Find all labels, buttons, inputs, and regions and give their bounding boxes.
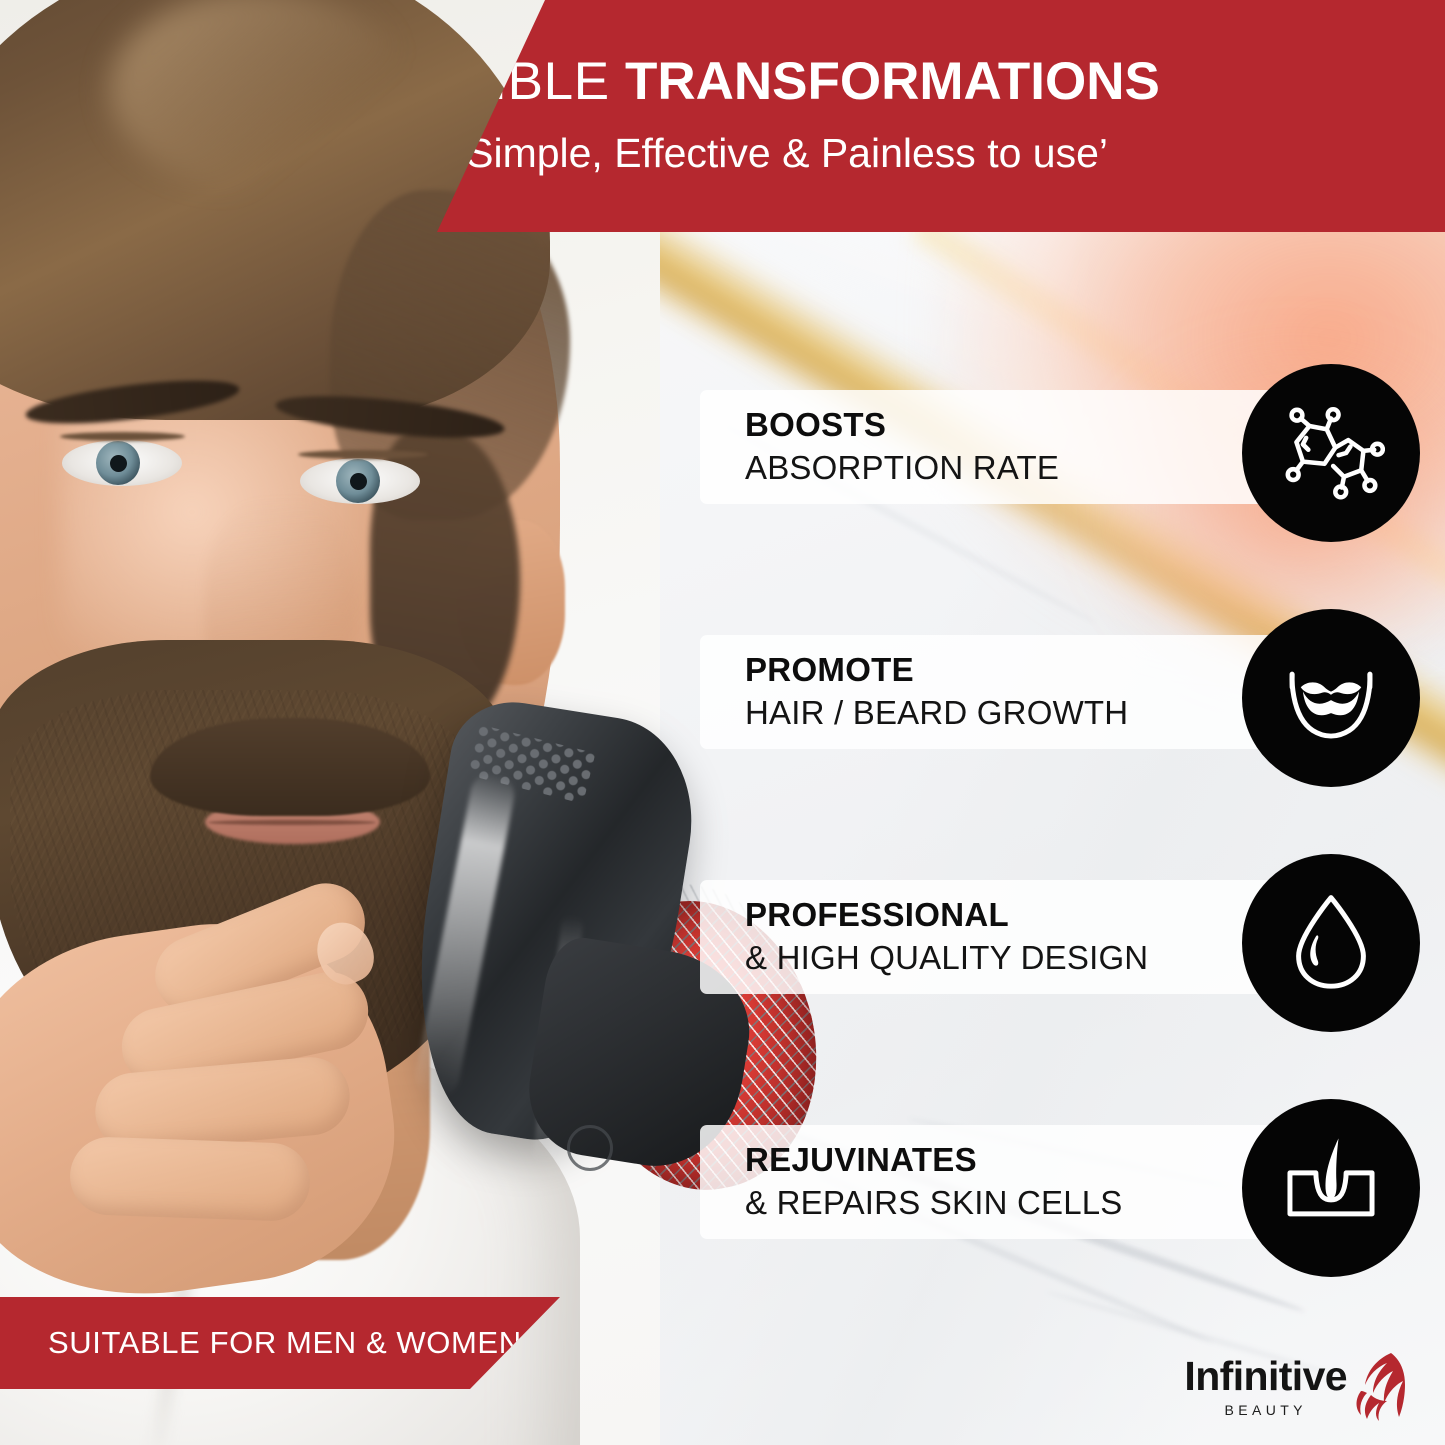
feature-row-boosts: BOOSTS ABSORPTION RATE [700, 372, 1420, 522]
feature-row-rejuvinates: REJUVINATES & REPAIRS SKIN CELLS [700, 1107, 1420, 1257]
feature-headline: PROFESSIONAL [745, 897, 1304, 934]
feature-row-promote: PROMOTE HAIR / BEARD GROWTH [700, 617, 1420, 767]
lip-line [208, 820, 376, 825]
feature-headline: REJUVINATES [745, 1142, 1304, 1179]
footer-banner-text: SUITABLE FOR MEN & WOMEN [48, 1325, 522, 1361]
flowing-hair-icon [1347, 1351, 1409, 1423]
feature-headline: BOOSTS [745, 407, 1304, 444]
roller-pivot [567, 1125, 613, 1171]
hair-follicle-icon [1277, 1134, 1385, 1242]
feature-subline: ABSORPTION RATE [745, 449, 1304, 487]
finger [69, 1136, 312, 1222]
product-marketing-image: VISIBLE TRANSFORMATIONS ‘Simple, Effecti… [0, 0, 1445, 1445]
mustache [150, 718, 430, 816]
feature-subline: HAIR / BEARD GROWTH [745, 694, 1304, 732]
feature-icon-badge [1242, 1099, 1420, 1277]
droplet-icon [1277, 889, 1385, 997]
page-title: VISIBLE TRANSFORMATIONS [405, 55, 1160, 108]
title-bold-word: TRANSFORMATIONS [625, 52, 1160, 111]
feature-row-professional: PROFESSIONAL & HIGH QUALITY DESIGN [700, 862, 1420, 1012]
eyelid-right [298, 450, 428, 459]
feature-subline: & REPAIRS SKIN CELLS [745, 1184, 1304, 1222]
feature-text-bar: PROFESSIONAL & HIGH QUALITY DESIGN [700, 880, 1304, 994]
eyelid-left [60, 432, 185, 441]
feature-text-bar: BOOSTS ABSORPTION RATE [700, 390, 1304, 504]
feature-headline: PROMOTE [745, 652, 1304, 689]
feature-subline: & HIGH QUALITY DESIGN [745, 939, 1304, 977]
brand-name: Infinitive [1184, 1356, 1347, 1397]
molecule-icon [1277, 399, 1385, 507]
header-subtitle: ‘Simple, Effective & Painless to use’ [457, 130, 1108, 177]
pupil-left [110, 455, 127, 472]
brand-tagline: BEAUTY [1225, 1402, 1307, 1418]
feature-icon-badge [1242, 364, 1420, 542]
pupil-right [350, 473, 367, 490]
brand-logo: Infinitive BEAUTY [1184, 1351, 1409, 1423]
feature-icon-badge [1242, 854, 1420, 1032]
feature-icon-badge [1242, 609, 1420, 787]
footer-banner: SUITABLE FOR MEN & WOMEN [0, 1297, 560, 1389]
brand-logo-text: Infinitive BEAUTY [1184, 1356, 1347, 1418]
feature-text-bar: REJUVINATES & REPAIRS SKIN CELLS [700, 1125, 1304, 1239]
feature-text-bar: PROMOTE HAIR / BEARD GROWTH [700, 635, 1304, 749]
beard-icon [1277, 644, 1385, 752]
